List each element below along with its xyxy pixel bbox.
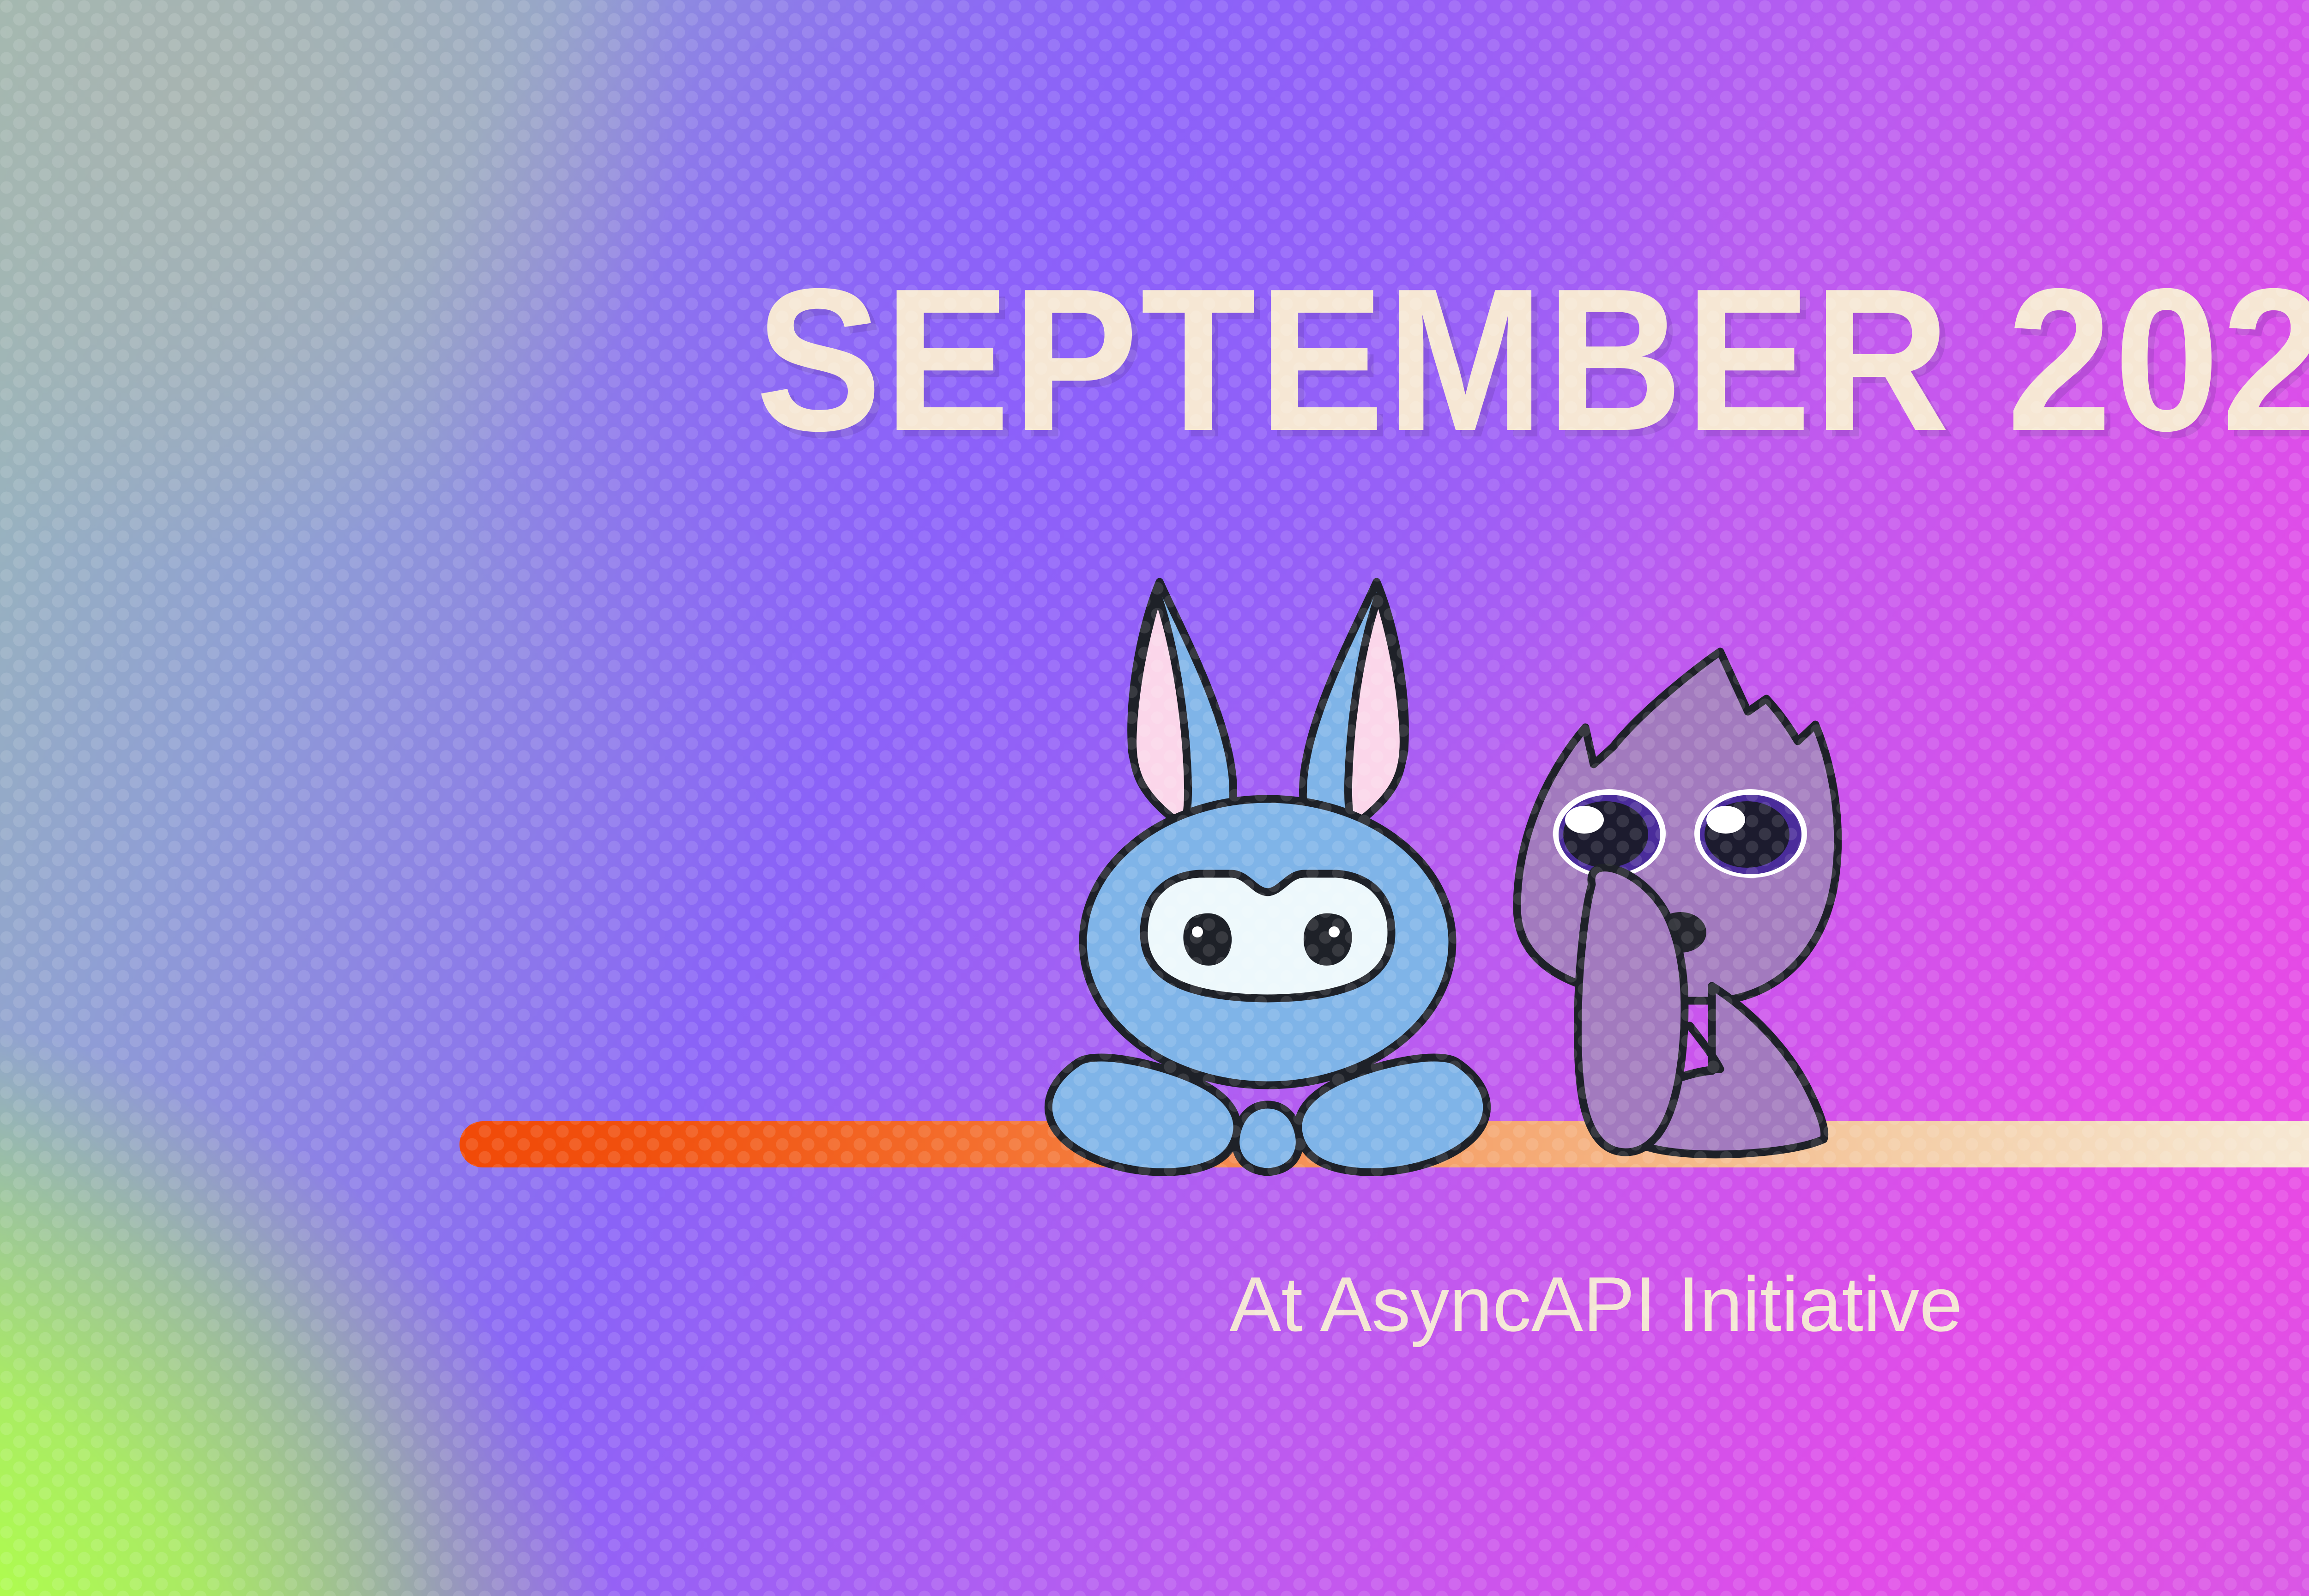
- flame-mascot: [1503, 626, 1854, 1180]
- bunny-belly-tuft: [1236, 1105, 1300, 1172]
- flame-arm: [1578, 868, 1684, 1152]
- flame-eye-left-highlight: [1565, 806, 1604, 834]
- flame-eye-right-highlight: [1706, 806, 1745, 834]
- page-title: SEPTEMBER 2025: [112, 259, 2309, 462]
- bunny-mascot: [1037, 526, 1499, 1187]
- bunny-eye-right-highlight: [1329, 926, 1340, 937]
- banner-canvas: SEPTEMBER 2025: [0, 0, 2309, 1596]
- page-subtitle: At AsyncAPI Initiative: [0, 1265, 2309, 1343]
- bunny-eye-mask: [1144, 874, 1391, 998]
- bunny-eye-left-highlight: [1192, 926, 1203, 937]
